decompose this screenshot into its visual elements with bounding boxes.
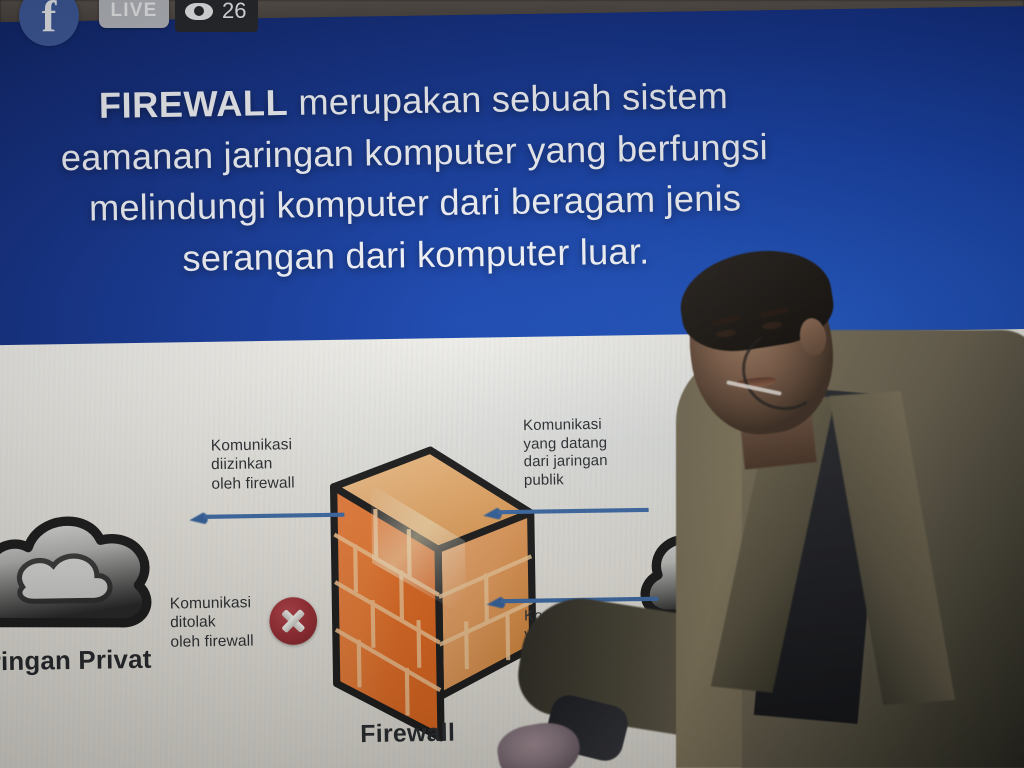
eye-icon: [185, 3, 213, 20]
note-incoming-top-line-4: publik: [524, 471, 608, 491]
note-allowed-line-2: diizinkan: [211, 455, 295, 475]
arrow-shaft: [204, 513, 345, 519]
note-denied: Komunikasi ditolak oleh firewall: [170, 594, 254, 652]
note-incoming-bottom: Komunikasi yang datang dari jaringan pub…: [524, 607, 609, 682]
note-incoming-top-line-3: dari jaringan: [524, 453, 608, 473]
note-allowed-line-1: Komunikasi: [211, 436, 295, 456]
live-badge-label: LIVE: [110, 0, 157, 22]
note-incoming-bottom-line-4: publik: [525, 662, 609, 682]
viewer-count-badge[interactable]: 26: [175, 0, 258, 32]
note-allowed-line-3: oleh firewall: [211, 474, 295, 494]
public-cloud-label: Jarin: [651, 632, 714, 663]
private-cloud-label: aringan Privat: [0, 645, 152, 678]
note-incoming-bottom-line-3: dari jaringan: [524, 643, 608, 663]
facebook-live-overlay: f LIVE 26: [0, 0, 1024, 48]
note-incoming-top: Komunikasi yang datang dari jaringan pub…: [523, 416, 608, 491]
live-badge[interactable]: LIVE: [99, 0, 169, 28]
slide-headline: FIREWALL merupakan sebuah sistem eamanan…: [0, 69, 864, 289]
note-denied-line-2: ditolak: [170, 613, 254, 633]
live-stream-frame: FIREWALL merupakan sebuah sistem eamanan…: [0, 0, 1024, 768]
facebook-logo-glyph: f: [42, 0, 57, 39]
note-incoming-top-line-2: yang datang: [523, 435, 607, 455]
arrow-incoming-top: [483, 505, 649, 518]
note-allowed: Komunikasi diizinkan oleh firewall: [211, 436, 295, 494]
note-incoming-bottom-line-2: yang datang: [524, 625, 608, 645]
note-denied-line-1: Komunikasi: [170, 594, 254, 614]
note-denied-line-3: oleh firewall: [170, 632, 254, 652]
headline-line-1-rest: merupakan sebuah sistem: [288, 76, 728, 123]
arrow-shaft: [498, 508, 649, 515]
facebook-logo-icon[interactable]: f: [19, 0, 79, 46]
headline-bold-word: FIREWALL: [99, 83, 289, 126]
viewer-count-value: 26: [222, 0, 246, 22]
note-incoming-top-line-1: Komunikasi: [523, 416, 607, 436]
firewall-label: Firewall: [360, 719, 455, 749]
firewall-diagram: aringan Privat Jarin: [0, 329, 1024, 768]
projected-slide: FIREWALL merupakan sebuah sistem eamanan…: [0, 6, 1024, 768]
note-incoming-bottom-line-1: Komunikasi: [524, 607, 608, 627]
arrow-head: [188, 511, 208, 528]
arrow-shaft: [501, 597, 658, 604]
